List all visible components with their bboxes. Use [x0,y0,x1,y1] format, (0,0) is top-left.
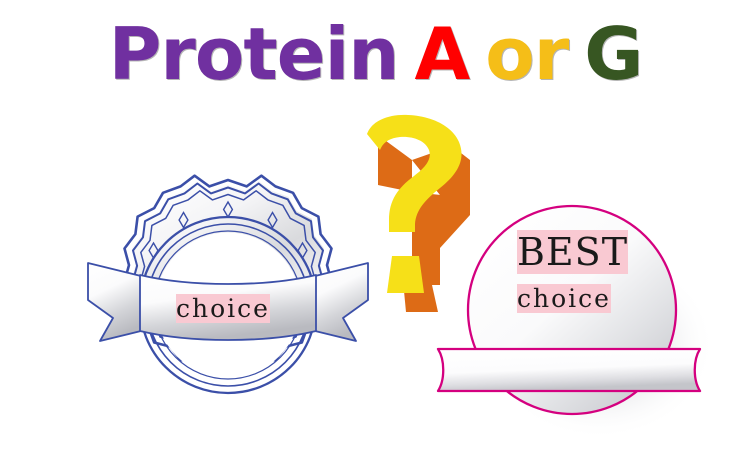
question-mark-dot [387,256,424,293]
left-badge-ribbon-label: choice [170,291,276,327]
right-badge-subheading-text: choice [517,284,611,313]
left-ribbon-tail-right [311,263,368,341]
right-badge-banner [438,349,700,391]
poster-canvas: ProteinAorG [0,0,751,461]
right-badge-heading: BEST [509,228,636,277]
left-badge [88,176,368,393]
badge-artwork [0,0,751,461]
question-mark-icon [367,115,470,312]
right-badge-subheading: choice [510,282,618,316]
left-badge-ribbon-label-text: choice [176,294,270,323]
right-badge-heading-text: BEST [517,230,628,274]
left-ribbon-tail-left [88,263,145,341]
